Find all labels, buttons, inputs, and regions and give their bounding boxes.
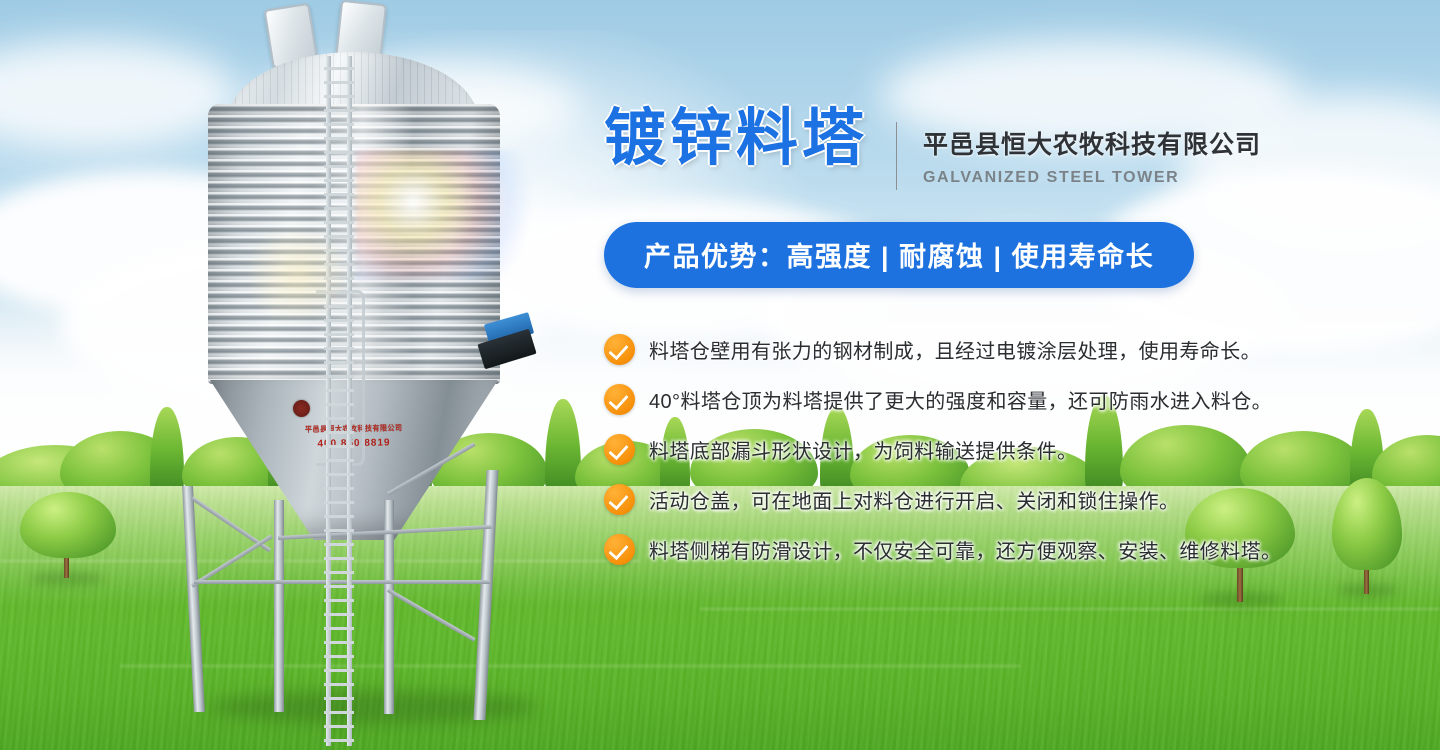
product-banner: 平邑县恒大农牧科技有限公司 400 850 8819 镀锌料塔: [0, 0, 1440, 750]
galvanized-silo-image: 平邑县恒大农牧科技有限公司 400 850 8819: [88, 0, 508, 750]
list-item: 料塔底部漏斗形状设计，为饲料输送提供条件。: [604, 424, 1304, 474]
title-row: 镀锌料塔 平邑县恒大农牧科技有限公司 GALVANIZED STEEL TOWE…: [604, 108, 1304, 190]
company-name-english: GALVANIZED STEEL TOWER: [923, 169, 1261, 187]
silo-ground-shadow: [208, 690, 538, 724]
silo-ladder: [324, 56, 354, 746]
title-divider: [896, 122, 897, 190]
advantage-badge: 产品优势：高强度 | 耐腐蚀 | 使用寿命长: [604, 222, 1194, 288]
check-circle-icon: [604, 434, 635, 465]
check-circle-icon: [604, 484, 635, 515]
lawn-tree: [1330, 478, 1404, 600]
silo-leg: [182, 486, 205, 712]
company-block: 平邑县恒大农牧科技有限公司 GALVANIZED STEEL TOWER: [923, 108, 1261, 187]
ladder-rungs: [324, 56, 354, 746]
list-item: 活动仓盖，可在地面上对料仓进行开启、关闭和锁住操作。: [604, 474, 1304, 524]
feature-text: 40°料塔仓顶为料塔提供了更大的强度和容量，还可防雨水进入料仓。: [649, 385, 1272, 414]
check-circle-icon: [604, 534, 635, 565]
leg-brace: [387, 588, 476, 641]
check-circle-icon: [604, 334, 635, 365]
hopper-valve-icon: [293, 400, 310, 417]
list-item: 料塔仓壁用有张力的钢材制成，且经过电镀涂层处理，使用寿命长。: [604, 324, 1304, 374]
feature-text: 料塔侧梯有防滑设计，不仅安全可靠，还方便观察、安装、维修料塔。: [649, 535, 1281, 564]
banner-content: 镀锌料塔 平邑县恒大农牧科技有限公司 GALVANIZED STEEL TOWE…: [604, 108, 1304, 574]
advantage-badge-label: 产品优势：高强度 | 耐腐蚀 | 使用寿命长: [644, 242, 1154, 272]
list-item: 料塔侧梯有防滑设计，不仅安全可靠，还方便观察、安装、维修料塔。: [604, 524, 1304, 574]
silo-leg: [473, 470, 498, 720]
company-name: 平邑县恒大农牧科技有限公司: [923, 130, 1261, 160]
silo-leg: [274, 500, 284, 712]
page-title: 镀锌料塔: [604, 108, 868, 170]
feature-text: 料塔仓壁用有张力的钢材制成，且经过电镀涂层处理，使用寿命长。: [649, 335, 1261, 364]
feature-text: 活动仓盖，可在地面上对料仓进行开启、关闭和锁住操作。: [649, 485, 1179, 514]
feature-text: 料塔底部漏斗形状设计，为饲料输送提供条件。: [649, 435, 1077, 464]
list-item: 40°料塔仓顶为料塔提供了更大的强度和容量，还可防雨水进入料仓。: [604, 374, 1304, 424]
feature-list: 料塔仓壁用有张力的钢材制成，且经过电镀涂层处理，使用寿命长。 40°料塔仓顶为料…: [604, 324, 1304, 574]
check-circle-icon: [604, 384, 635, 415]
